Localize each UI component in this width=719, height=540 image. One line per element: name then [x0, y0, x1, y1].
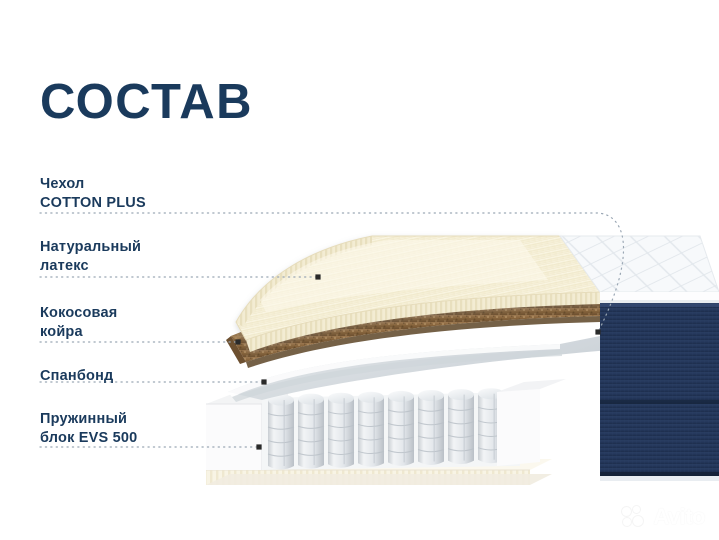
label-coir-line1: Кокосовая — [40, 304, 117, 323]
avito-watermark: Avito — [622, 504, 705, 530]
spring-cylinder — [358, 392, 384, 467]
label-springs-line2: блок EVS 500 — [40, 429, 137, 448]
label-coir: Кокосоваякойра — [40, 304, 117, 342]
layer-natural-latex — [236, 236, 600, 352]
avito-wordmark: Avito — [653, 504, 705, 530]
poster-canvas: СОСТАВ — [0, 0, 719, 540]
leader-endpoint-cover — [595, 329, 600, 334]
leader-endpoint-spunbond — [261, 379, 266, 384]
label-spunbond: Спанбонд — [40, 367, 113, 386]
spring-cylinder — [448, 389, 474, 464]
label-latex-line1: Натуральный — [40, 238, 141, 257]
label-spunbond-line1: Спанбонд — [40, 367, 113, 386]
spring-cylinder — [328, 393, 354, 468]
label-cover-line2: COTTON PLUS — [40, 194, 146, 213]
label-springs-line1: Пружинный — [40, 410, 137, 429]
label-latex: Натуральныйлатекс — [40, 238, 141, 276]
leader-endpoint-springs — [256, 444, 261, 449]
label-springs: Пружинныйблок EVS 500 — [40, 410, 137, 448]
leader-endpoint-coir — [235, 339, 240, 344]
label-cover-line1: Чехол — [40, 175, 146, 194]
label-latex-line2: латекс — [40, 257, 141, 276]
spring-cylinder — [388, 391, 414, 466]
side-band: DIMAX — [600, 303, 719, 481]
spring-cylinder — [418, 390, 444, 465]
avito-dots-icon — [622, 506, 648, 528]
spring-cylinder — [298, 394, 324, 469]
label-cover: ЧехолCOTTON PLUS — [40, 175, 146, 213]
spring-cylinder — [268, 395, 294, 470]
leader-endpoint-latex — [315, 274, 320, 279]
label-coir-line2: койра — [40, 323, 117, 342]
